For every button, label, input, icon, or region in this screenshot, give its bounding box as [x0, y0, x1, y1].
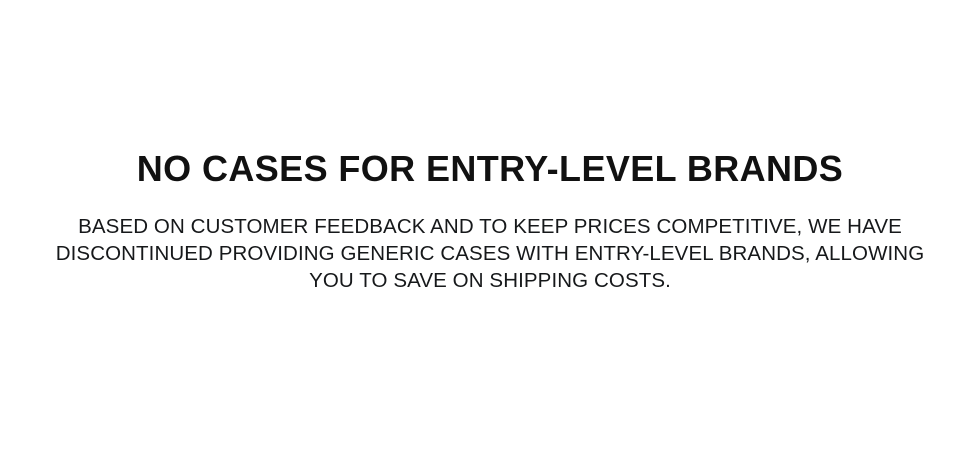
- promo-banner: NO CASES FOR ENTRY-LEVEL BRANDS BASED ON…: [0, 0, 980, 450]
- page-title: NO CASES FOR ENTRY-LEVEL BRANDS: [0, 149, 980, 189]
- promo-description-line: YOU TO SAVE ON SHIPPING COSTS.: [0, 267, 980, 294]
- promo-content: NO CASES FOR ENTRY-LEVEL BRANDS BASED ON…: [0, 0, 980, 294]
- promo-description: BASED ON CUSTOMER FEEDBACK AND TO KEEP P…: [0, 213, 980, 294]
- promo-description-line: DISCONTINUED PROVIDING GENERIC CASES WIT…: [0, 240, 980, 267]
- promo-description-line: BASED ON CUSTOMER FEEDBACK AND TO KEEP P…: [0, 213, 980, 240]
